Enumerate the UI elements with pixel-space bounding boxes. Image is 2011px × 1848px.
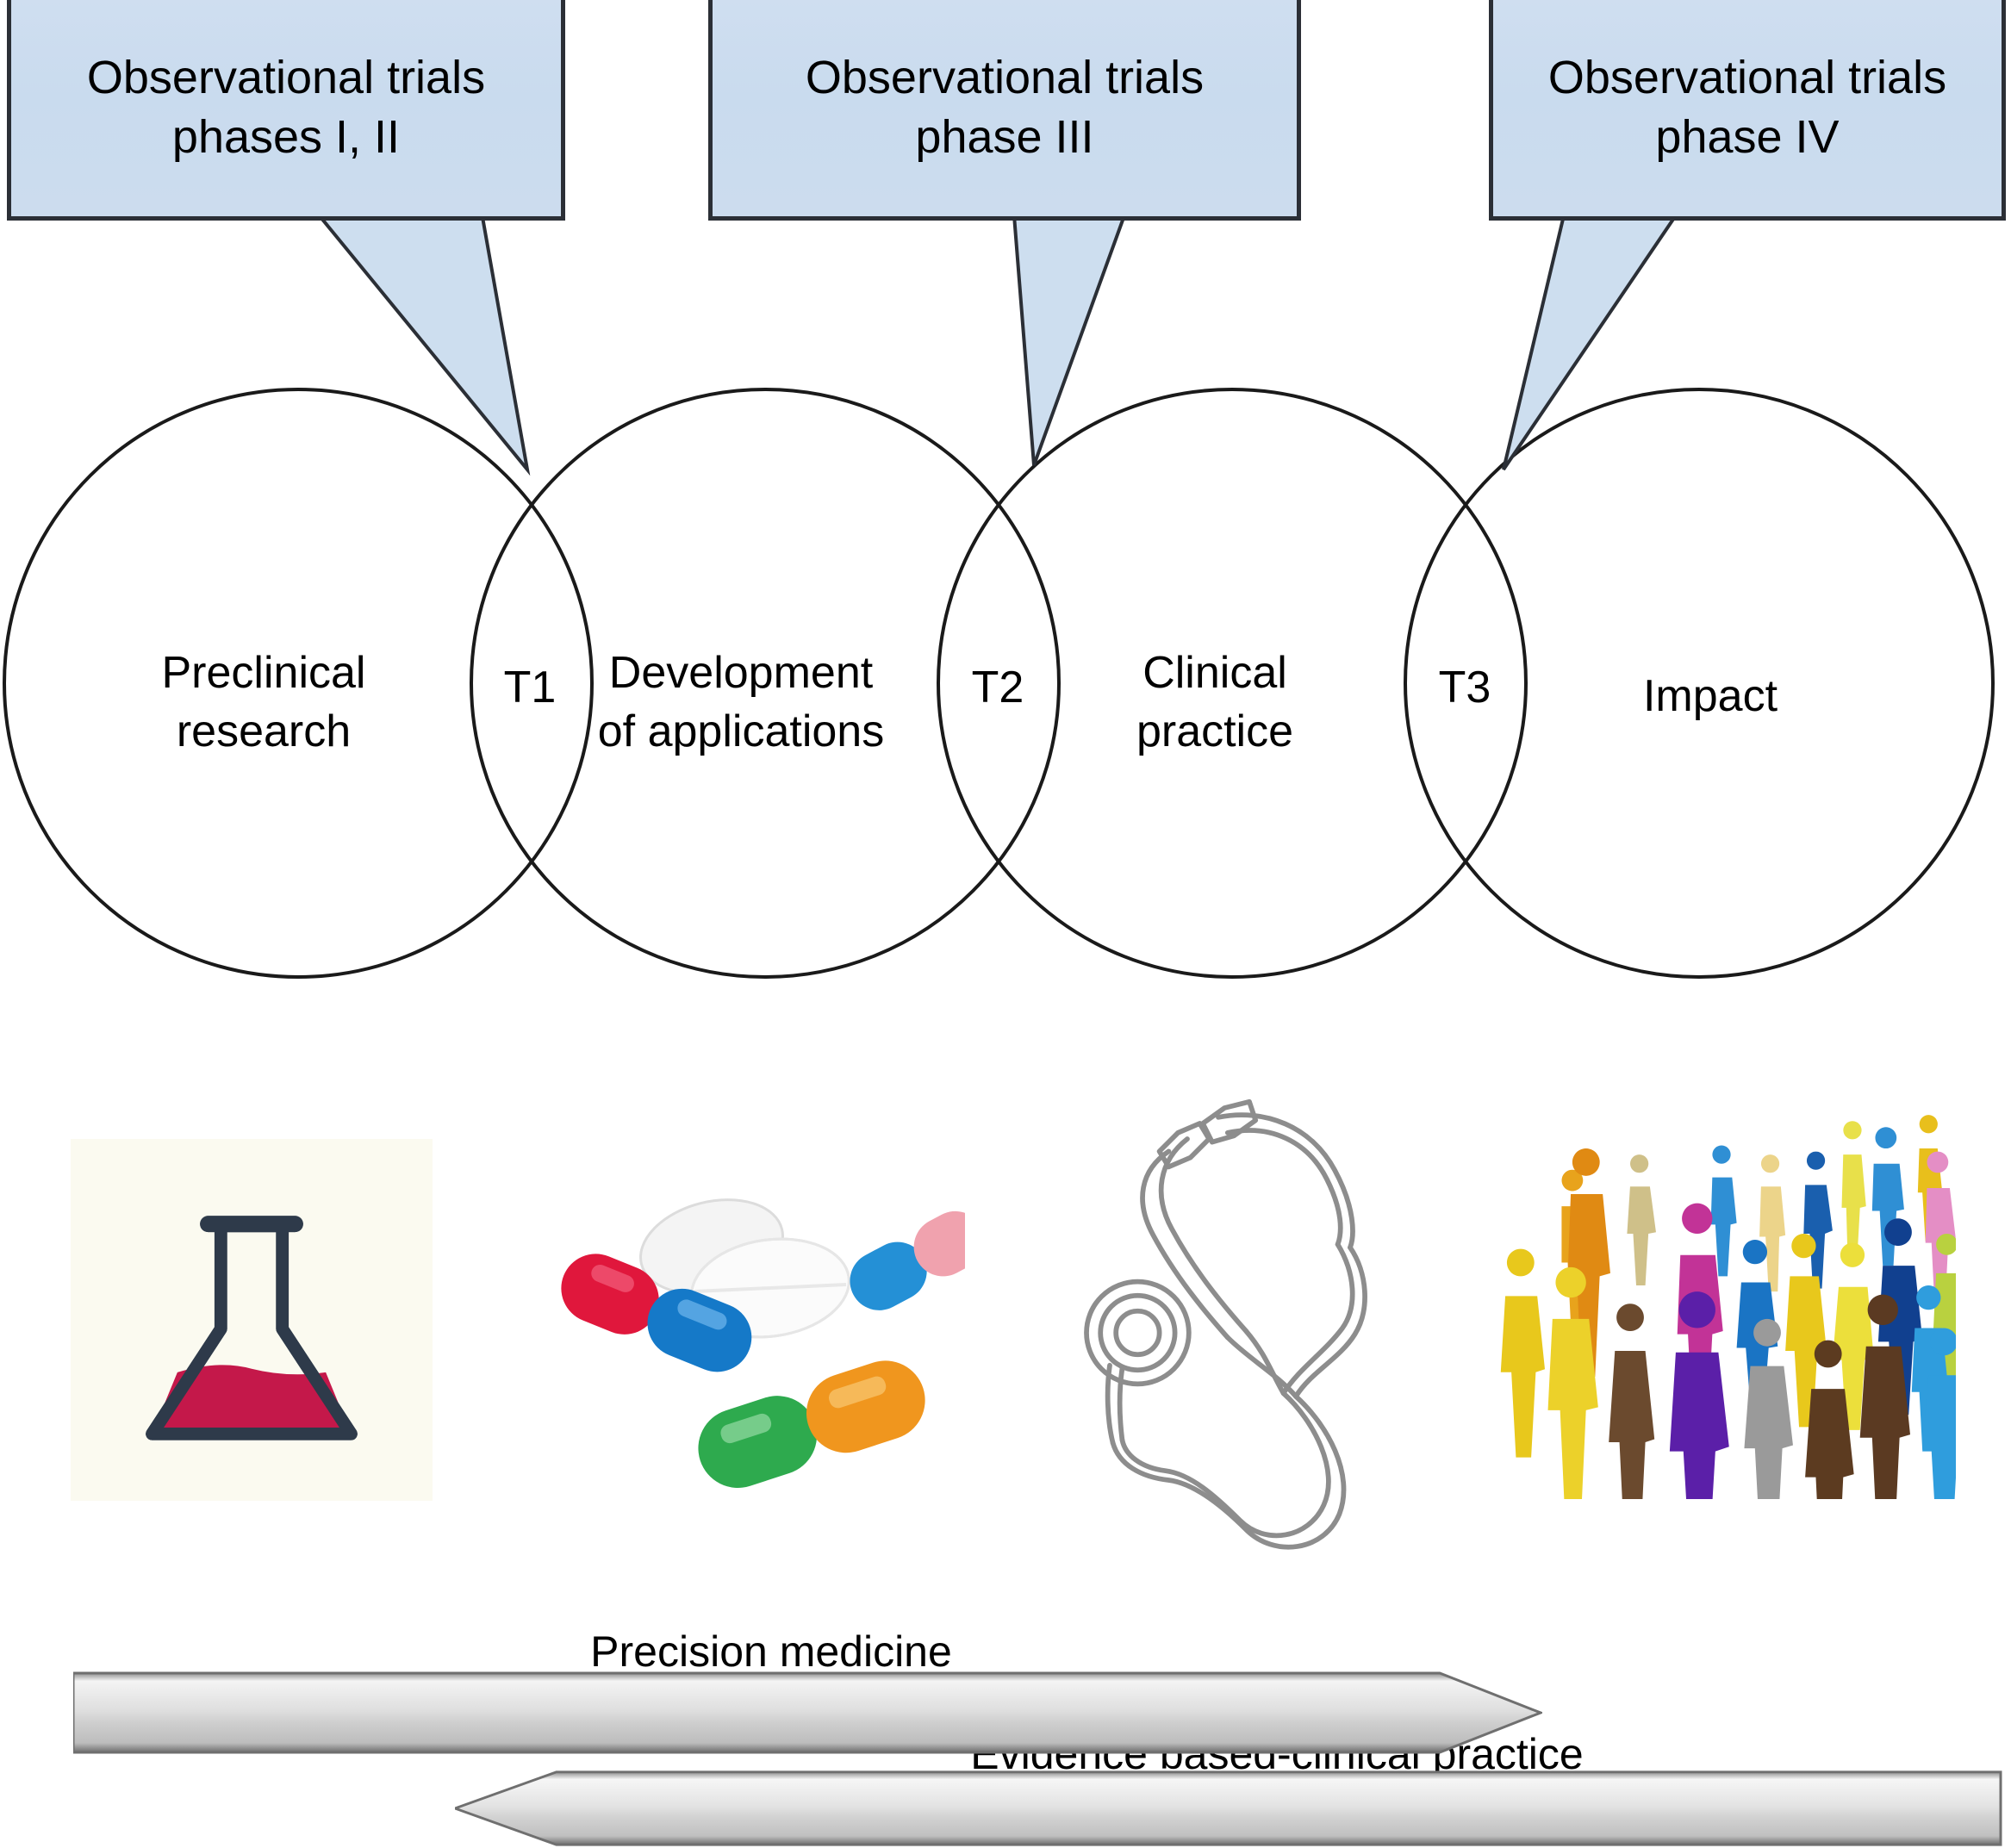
callout-2-line-1: Observational trials [806, 48, 1204, 108]
figure-canvas: Observational trials phases I, II Observ… [0, 0, 2011, 1847]
label-impact: Impact [1521, 668, 1900, 726]
label-development-of-applications: Development of applications [543, 644, 939, 761]
callout-phase-3[interactable]: Observational trials phase III [708, 0, 1301, 221]
callout-2-line-2: phase III [806, 108, 1204, 167]
callout-phases-1-2[interactable]: Observational trials phases I, II [7, 0, 565, 221]
t1-marker: T1 [470, 662, 590, 713]
callout-phase-4[interactable]: Observational trials phase IV [1489, 0, 2006, 221]
t2-marker: T2 [937, 662, 1058, 713]
label-preclinical-research: Preclinical research [65, 644, 462, 761]
callout-3-line-2: phase IV [1548, 108, 1946, 167]
callout-3-line-1: Observational trials [1548, 48, 1946, 108]
pills-icon [500, 1185, 965, 1529]
callout-1-line-1: Observational trials [87, 48, 485, 108]
t3-marker: T3 [1404, 662, 1525, 713]
callout-1-line-2: phases I, II [87, 108, 485, 167]
evidence-based-practice-arrow[interactable] [455, 1769, 2002, 1848]
precision-medicine-arrow[interactable] [73, 1670, 1542, 1756]
flask-icon [62, 1139, 441, 1501]
crowd-icon [1499, 1111, 1956, 1499]
stethoscope-icon [1068, 1092, 1430, 1558]
label-clinical-practice: Clinical practice [1025, 644, 1404, 761]
